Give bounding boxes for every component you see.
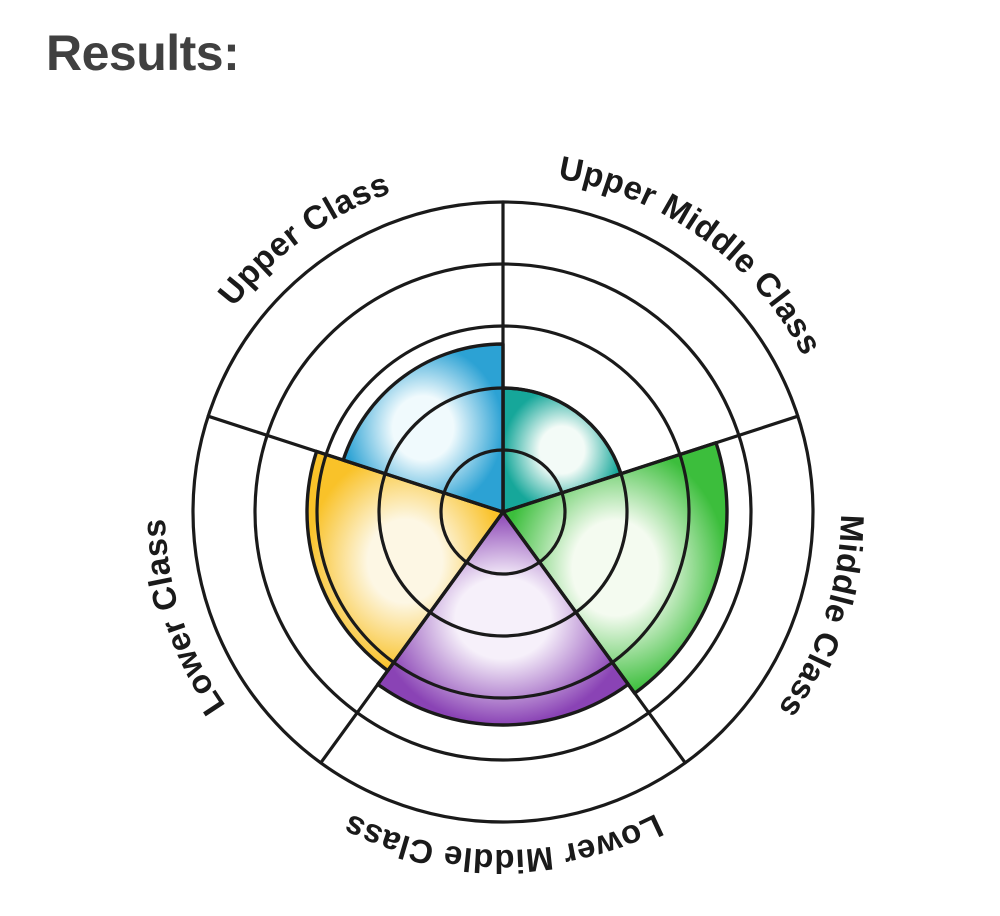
page-root: Results: Upper Middle ClassMiddle ClassL… bbox=[0, 0, 1000, 916]
axis-label-lower-middle-class: Lower Middle Class bbox=[337, 807, 668, 880]
axis-label-upper-middle-class: Upper Middle Class bbox=[556, 149, 830, 361]
axis-label-middle-class: Middle Class bbox=[772, 514, 871, 726]
radar-chart: Upper Middle ClassMiddle ClassLower Midd… bbox=[0, 0, 1000, 916]
radar-chart-svg: Upper Middle ClassMiddle ClassLower Midd… bbox=[0, 0, 1000, 916]
axis-label-lower-class: Lower Class bbox=[135, 518, 232, 722]
wedge-group bbox=[307, 344, 727, 725]
axis-label-upper-class: Upper Class bbox=[210, 165, 394, 312]
